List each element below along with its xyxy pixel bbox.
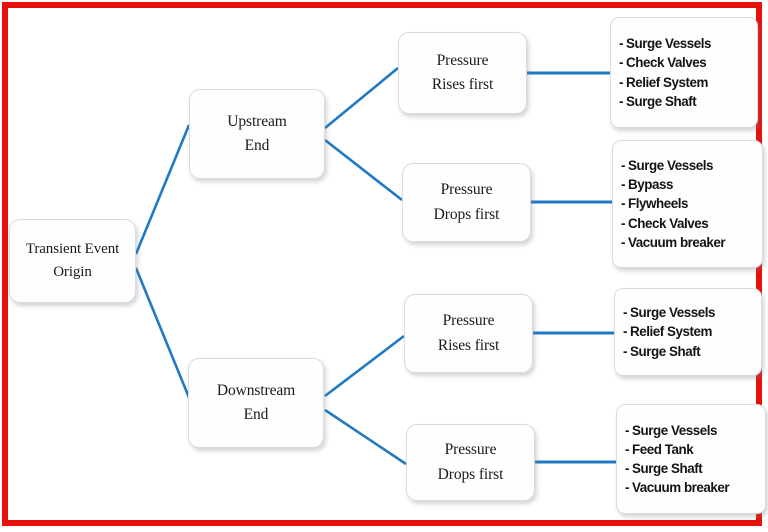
device-list-item: -Surge Shaft <box>619 92 751 111</box>
device-label: Surge Shaft <box>630 344 700 359</box>
device-label: Surge Vessels <box>628 158 713 173</box>
device-label: Check Valves <box>628 216 708 231</box>
connector-downstream-to-drops <box>325 410 406 464</box>
device-label: Check Valves <box>626 55 706 70</box>
device-list-upstream-rises[interactable]: -Surge Vessels-Check Valves-Relief Syste… <box>610 17 758 128</box>
device-list-item: -Flywheels <box>621 194 756 213</box>
device-label: Surge Vessels <box>626 36 711 51</box>
bullet-dash: - <box>621 177 625 192</box>
upstream-rises-line-1: Pressure <box>437 49 489 73</box>
bullet-dash: - <box>621 235 625 250</box>
device-label: Relief System <box>630 324 712 339</box>
root-line-2: Origin <box>53 261 92 284</box>
node-upstream-end[interactable]: Upstream End <box>189 89 325 179</box>
device-label: Vacuum breaker <box>632 480 729 495</box>
device-list-item: -Vacuum breaker <box>621 233 756 252</box>
device-list-item: -Surge Vessels <box>623 303 755 322</box>
upstream-drops-line-1: Pressure <box>441 178 493 202</box>
device-list-downstream-rises[interactable]: -Surge Vessels-Relief System-Surge Shaft <box>614 288 762 376</box>
downstream-drops-line-1: Pressure <box>445 438 497 462</box>
connector-upstream-to-drops <box>325 140 402 200</box>
downstream-line-2: End <box>244 403 269 427</box>
device-list-upstream-drops[interactable]: -Surge Vessels-Bypass-Flywheels-Check Va… <box>612 140 763 268</box>
device-list-item: -Check Valves <box>621 214 756 233</box>
device-list-item: -Surge Vessels <box>621 156 756 175</box>
bullet-dash: - <box>625 461 629 476</box>
node-upstream-pressure-rises-first[interactable]: Pressure Rises first <box>398 32 527 114</box>
node-downstream-end[interactable]: Downstream End <box>188 358 324 448</box>
diagram-page: Transient Event Origin Upstream End Down… <box>0 0 768 532</box>
device-label: Surge Vessels <box>630 305 715 320</box>
device-label: Flywheels <box>628 196 688 211</box>
device-list-item: -Surge Shaft <box>625 459 759 478</box>
downstream-rises-line-1: Pressure <box>443 309 495 333</box>
connector-downstream-to-rises <box>325 336 404 396</box>
bullet-dash: - <box>619 94 623 109</box>
upstream-rises-line-2: Rises first <box>432 73 493 97</box>
device-list-item: -Relief System <box>619 73 751 92</box>
downstream-rises-line-2: Rises first <box>438 334 499 358</box>
bullet-dash: - <box>619 75 623 90</box>
upstream-line-2: End <box>245 134 270 158</box>
device-label: Surge Shaft <box>626 94 696 109</box>
bullet-dash: - <box>619 55 623 70</box>
bullet-dash: - <box>623 305 627 320</box>
device-label: Feed Tank <box>632 442 693 457</box>
bullet-dash: - <box>621 196 625 211</box>
device-label: Surge Shaft <box>632 461 702 476</box>
device-label: Vacuum breaker <box>628 235 725 250</box>
device-list-downstream-drops[interactable]: -Surge Vessels-Feed Tank-Surge Shaft-Vac… <box>616 404 766 514</box>
device-list-item: -Surge Vessels <box>625 421 759 440</box>
device-label: Bypass <box>628 177 673 192</box>
bullet-dash: - <box>625 442 629 457</box>
bullet-dash: - <box>625 480 629 495</box>
upstream-drops-line-2: Drops first <box>434 203 500 227</box>
diagram-canvas: Transient Event Origin Upstream End Down… <box>0 0 768 532</box>
bullet-dash: - <box>623 324 627 339</box>
root-line-1: Transient Event <box>26 238 119 261</box>
downstream-line-1: Downstream <box>217 379 295 403</box>
upstream-line-1: Upstream <box>227 110 286 134</box>
device-list-item: -Relief System <box>623 322 755 341</box>
bullet-dash: - <box>621 158 625 173</box>
node-upstream-pressure-drops-first[interactable]: Pressure Drops first <box>402 163 531 242</box>
device-list-item: -Surge Shaft <box>623 342 755 361</box>
node-downstream-pressure-rises-first[interactable]: Pressure Rises first <box>404 294 533 373</box>
bullet-dash: - <box>625 423 629 438</box>
device-label: Relief System <box>626 75 708 90</box>
connector-root-to-upstream <box>136 125 189 254</box>
device-list-item: -Feed Tank <box>625 440 759 459</box>
node-downstream-pressure-drops-first[interactable]: Pressure Drops first <box>406 424 535 501</box>
connector-root-to-downstream <box>136 268 190 400</box>
device-list-item: -Check Valves <box>619 53 751 72</box>
node-transient-event-origin[interactable]: Transient Event Origin <box>9 219 136 303</box>
downstream-drops-line-2: Drops first <box>438 463 504 487</box>
bullet-dash: - <box>623 344 627 359</box>
device-list-item: -Vacuum breaker <box>625 478 759 497</box>
bullet-dash: - <box>619 36 623 51</box>
device-list-item: -Bypass <box>621 175 756 194</box>
bullet-dash: - <box>621 216 625 231</box>
device-label: Surge Vessels <box>632 423 717 438</box>
connector-upstream-to-rises <box>325 68 398 128</box>
device-list-item: -Surge Vessels <box>619 34 751 53</box>
